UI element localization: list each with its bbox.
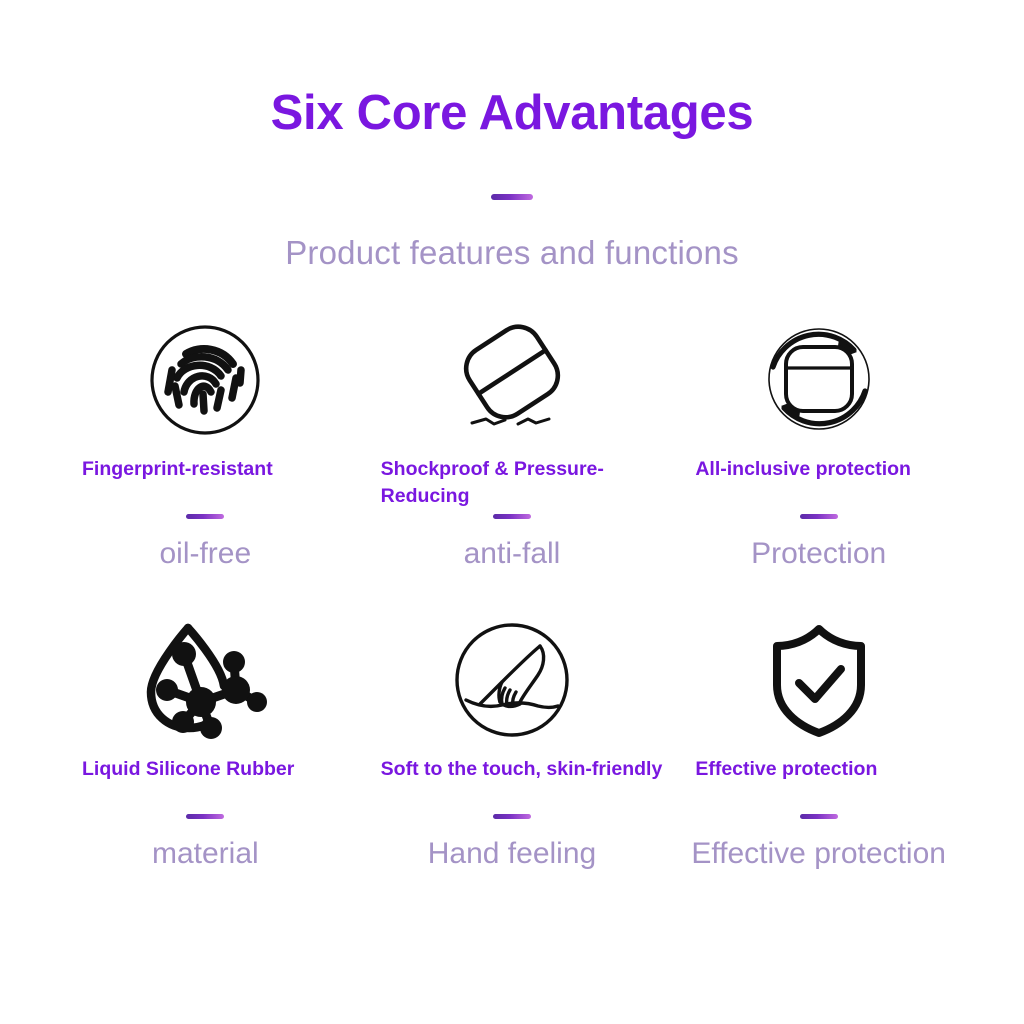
feature-divider (186, 814, 224, 819)
feature-card-soft-touch: Soft to the touch, skin-friendly Hand fe… (359, 618, 666, 918)
liquid-silicone-droplet-molecule-icon (139, 618, 271, 742)
feature-card-effective-protection: Effective protection Effective protectio… (665, 618, 972, 918)
feature-caption: oil-free (159, 537, 251, 570)
feature-divider (186, 514, 224, 519)
hand-touch-soft-icon (450, 618, 574, 742)
page-subtitle: Product features and functions (0, 234, 1024, 272)
feature-caption: Effective protection (691, 837, 946, 870)
feature-label: Fingerprint-resistant (52, 456, 359, 510)
infographic-page: Six Core Advantages Product features and… (0, 0, 1024, 1024)
feature-label: Effective protection (665, 756, 972, 810)
feature-card-all-inclusive-protection: All-inclusive protection Protection (665, 318, 972, 618)
feature-label: All-inclusive protection (665, 456, 972, 510)
fingerprint-icon (145, 318, 265, 442)
features-grid: Fingerprint-resistant oil-free Shockp (0, 318, 1024, 918)
feature-label: Soft to the touch, skin-friendly (359, 756, 666, 810)
feature-caption: material (152, 837, 259, 870)
all-round-protection-icon (757, 318, 881, 442)
header: Six Core Advantages Product features and… (0, 0, 1024, 272)
feature-label: Shockproof & Pressure-Reducing (359, 456, 666, 510)
page-title: Six Core Advantages (0, 88, 1024, 139)
shield-check-icon (763, 618, 875, 742)
feature-card-liquid-silicone-rubber: Liquid Silicone Rubber material (52, 618, 359, 918)
feature-divider (800, 514, 838, 519)
feature-divider (493, 514, 531, 519)
feature-caption: anti-fall (464, 537, 561, 570)
feature-label: Liquid Silicone Rubber (52, 756, 359, 810)
header-divider (491, 194, 533, 200)
feature-caption: Protection (751, 537, 886, 570)
feature-caption: Hand feeling (428, 837, 596, 870)
feature-divider (800, 814, 838, 819)
feature-card-fingerprint-resistant: Fingerprint-resistant oil-free (52, 318, 359, 618)
feature-divider (493, 814, 531, 819)
feature-card-shockproof: Shockproof & Pressure-Reducing anti-fall (359, 318, 666, 618)
shockproof-case-icon (450, 318, 574, 442)
